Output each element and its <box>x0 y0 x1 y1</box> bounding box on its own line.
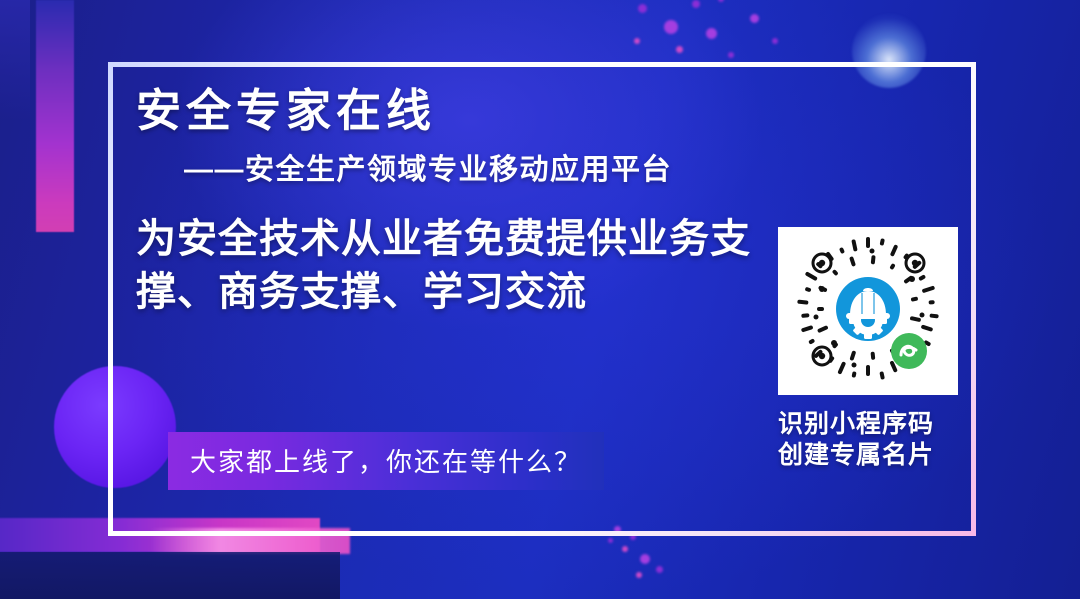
miniprogram-code-graphic <box>778 227 958 395</box>
wechat-miniprogram-code[interactable] <box>778 227 958 395</box>
qr-caption-line-1: 识别小程序码 <box>778 409 958 440</box>
wechat-miniprogram-badge-icon <box>891 333 927 369</box>
safety-helmet-gear-icon <box>836 277 900 341</box>
qr-caption-line-2: 创建专属名片 <box>778 440 958 471</box>
promotional-banner: 安全专家在线 ——安全生产领域专业移动应用平台 为安全技术从业者免费提供业务支撑… <box>0 0 1080 599</box>
text-content-block: 安全专家在线 ——安全生产领域专业移动应用平台 为安全技术从业者免费提供业务支撑… <box>136 86 776 318</box>
left-gradient-stripe <box>36 0 74 232</box>
page-title: 安全专家在线 <box>136 86 776 136</box>
purple-dots-top-cluster <box>620 0 870 84</box>
purple-circle-decoration <box>54 366 176 488</box>
subtitle: ——安全生产领域专业移动应用平台 <box>184 154 776 187</box>
bottom-left-shadow <box>0 552 340 599</box>
left-edge-glow <box>0 0 30 120</box>
qr-caption: 识别小程序码 创建专属名片 <box>778 409 958 472</box>
magenta-band-highlight <box>150 528 350 554</box>
tagline-container: 大家都上线了，你还在等什么？ <box>168 432 604 490</box>
qr-code-block[interactable]: 识别小程序码 创建专属名片 <box>778 227 958 472</box>
purple-dots-bottom-cluster <box>600 520 710 599</box>
body-copy: 为安全技术从业者免费提供业务支撑、商务支撑、学习交流 <box>136 213 751 319</box>
tagline-badge: 大家都上线了，你还在等什么？ <box>168 432 604 490</box>
